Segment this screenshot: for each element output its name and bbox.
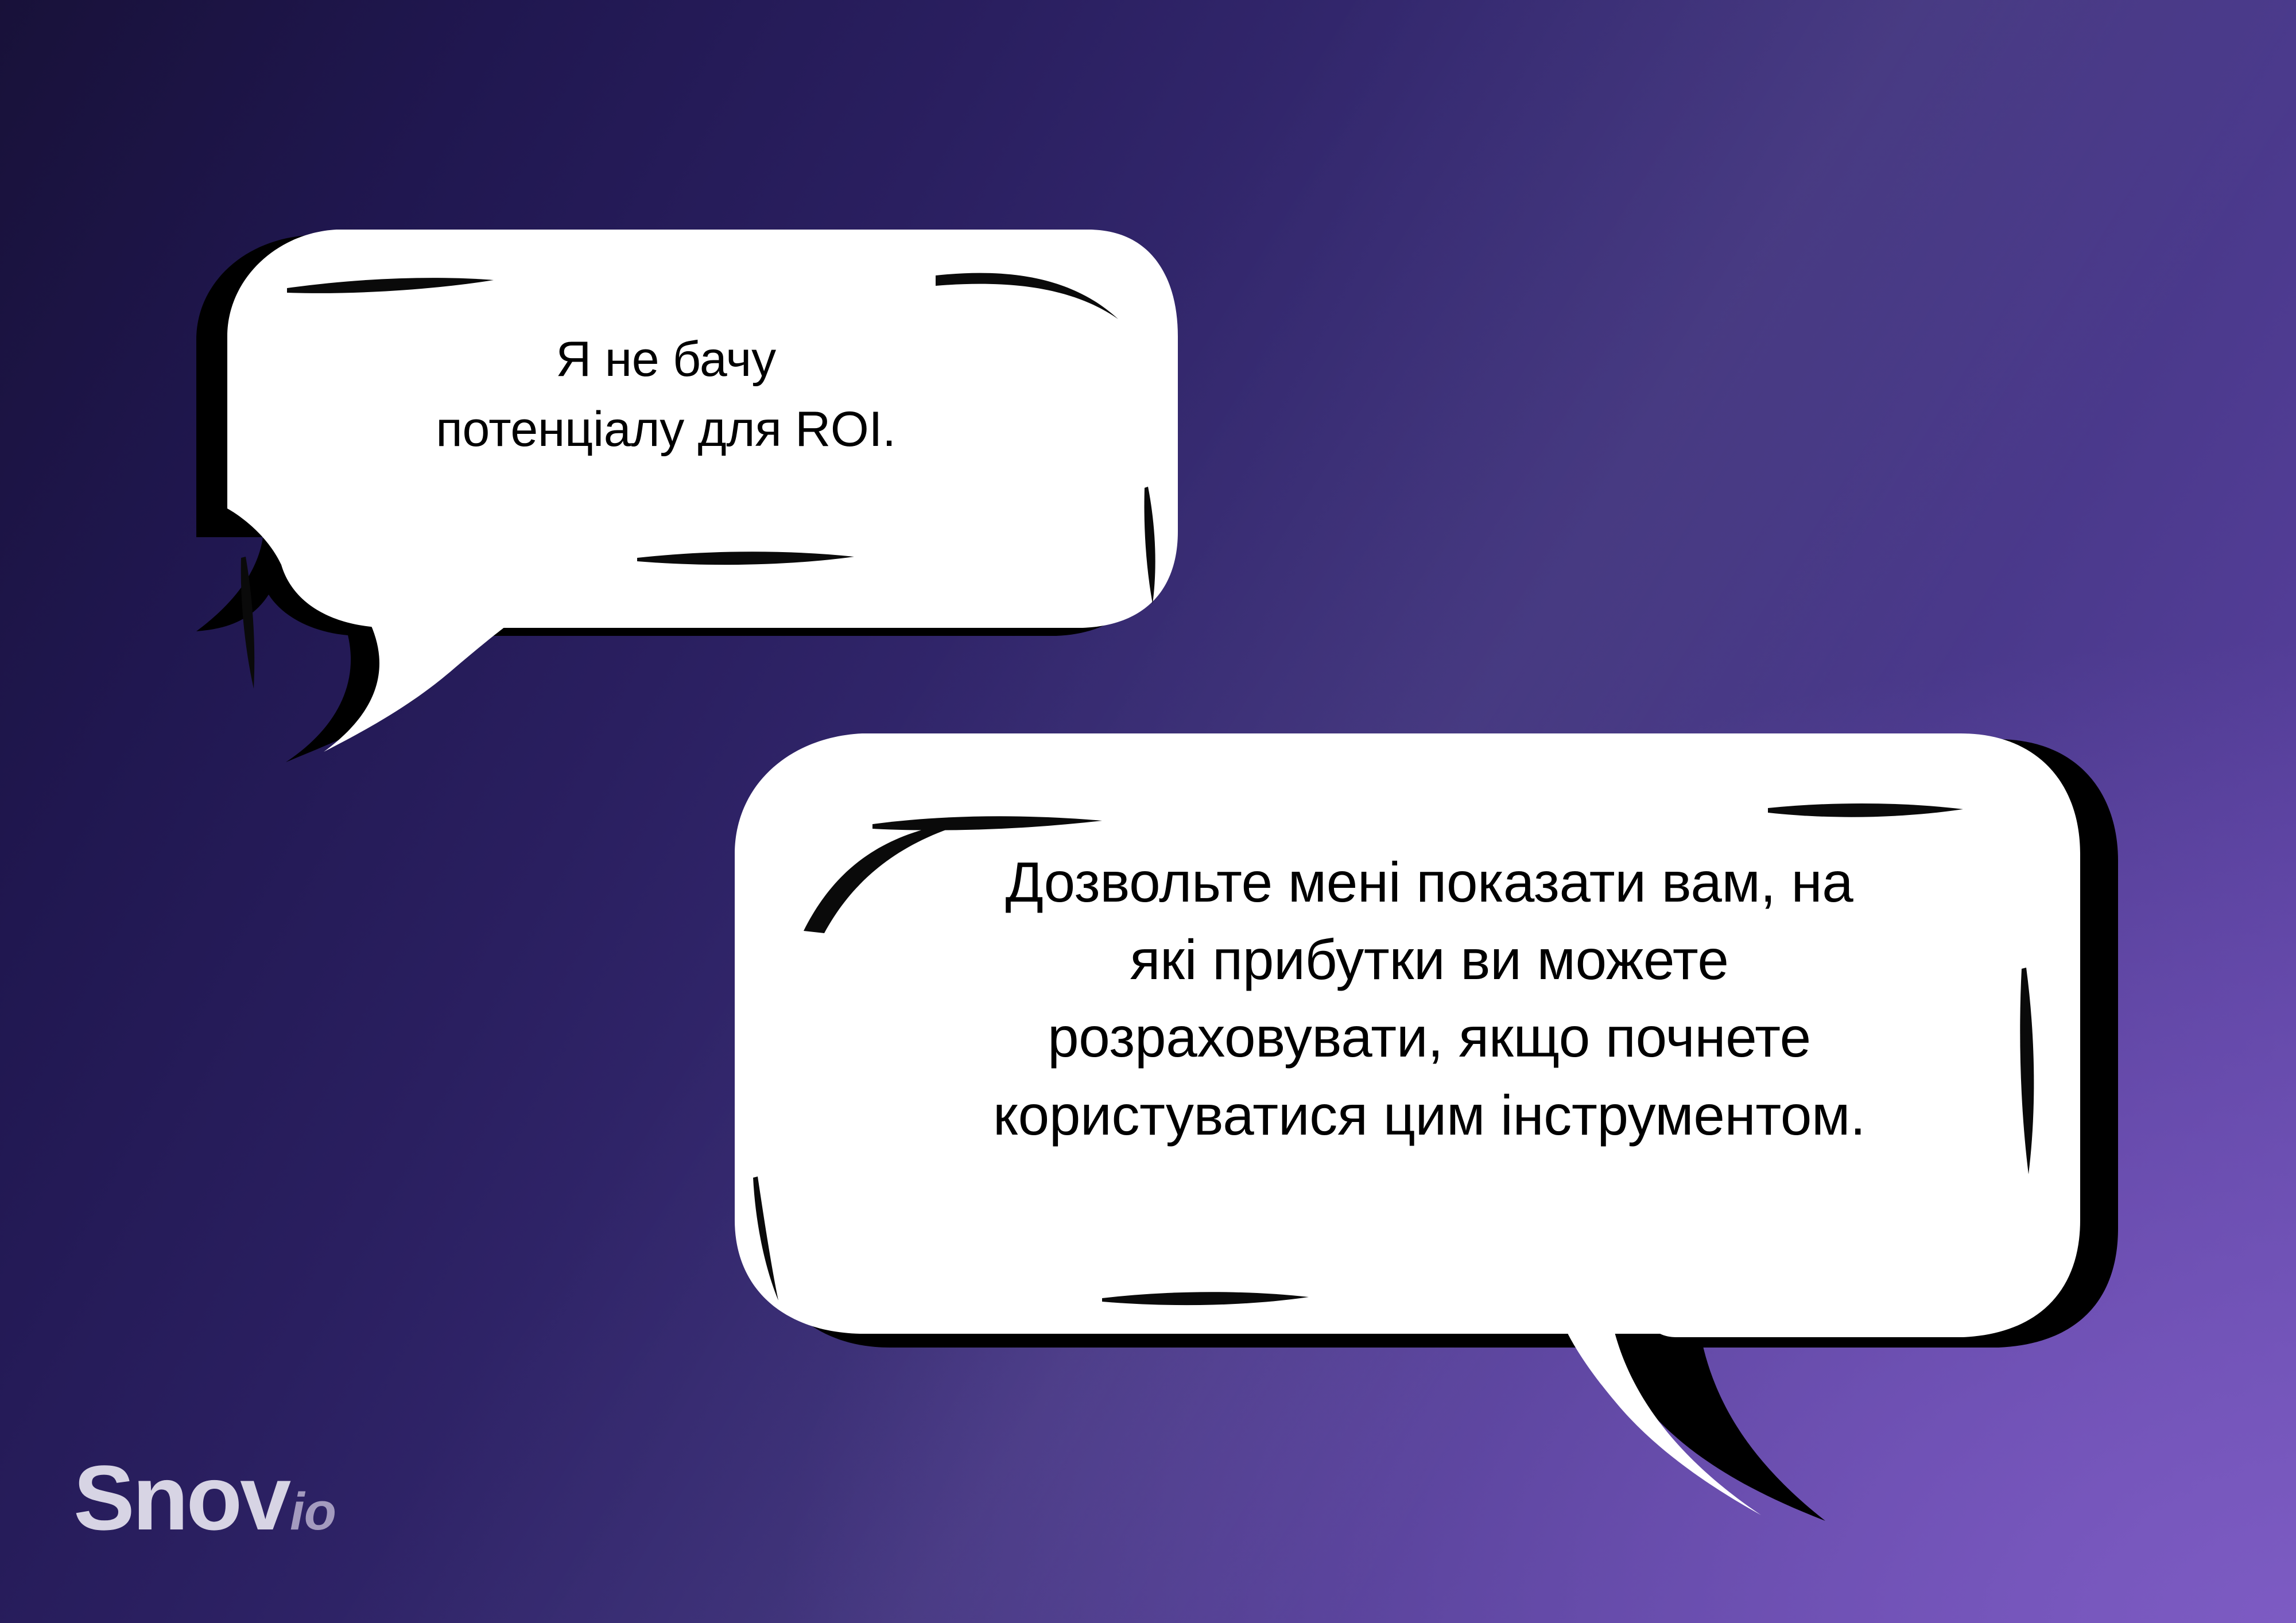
speech-bubble-objection [172, 218, 1182, 769]
logo-wordmark: Snov [73, 1452, 289, 1544]
bubble-response-text: Дозвольте мені показати вам, на які приб… [804, 844, 2055, 1154]
snovio-logo: Snov io [73, 1452, 336, 1544]
bubble-objection-text: Я не бачу потенціалу для ROI. [247, 324, 1085, 464]
poster-canvas: Я не бачу потенціалу для ROI. [0, 0, 2296, 1623]
logo-tld: io [290, 1485, 336, 1538]
